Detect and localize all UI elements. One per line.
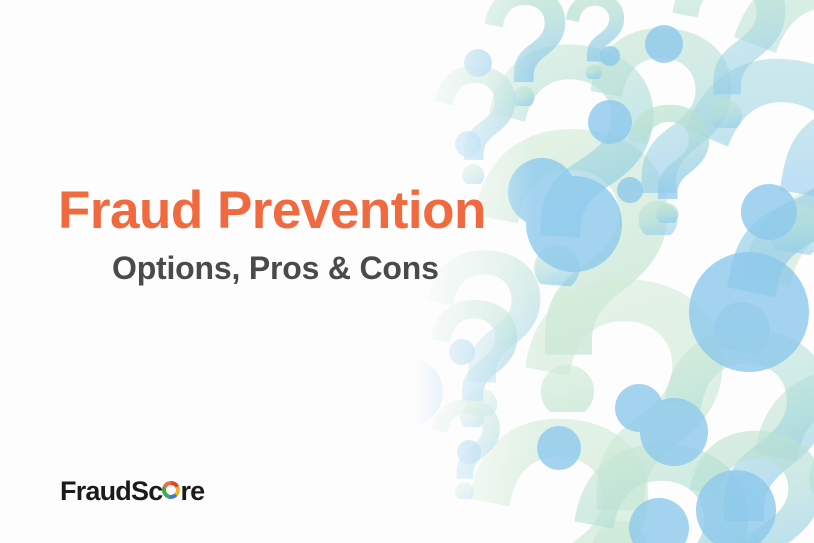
- brand-logo-text-after: re: [180, 478, 204, 505]
- page-subtitle: Options, Pros & Cons: [112, 251, 439, 286]
- brand-logo-text-before: FraudSc: [60, 478, 162, 505]
- page-title: Fraud Prevention: [58, 183, 486, 239]
- slide-canvas: Fraud Prevention Options, Pros & Cons Fr…: [0, 0, 814, 543]
- segmented-ring-icon: [162, 481, 180, 499]
- title-block: Fraud Prevention Options, Pros & Cons: [0, 0, 500, 543]
- brand-logo: FraudSc re: [60, 478, 204, 508]
